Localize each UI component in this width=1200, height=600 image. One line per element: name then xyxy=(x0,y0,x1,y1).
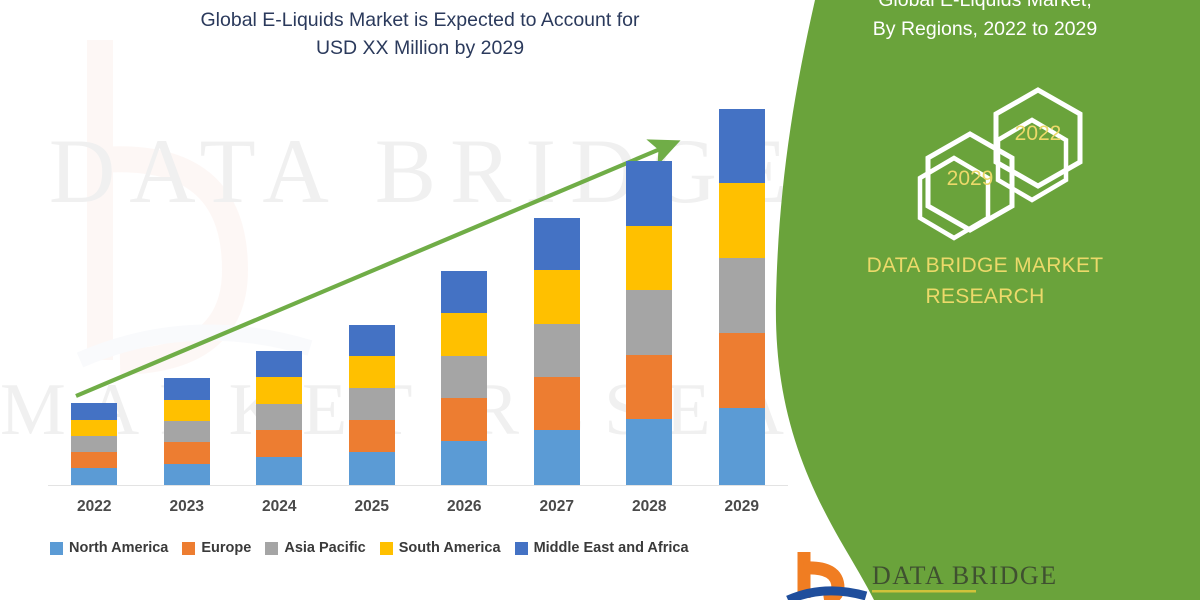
x-axis-label-2028: 2028 xyxy=(604,498,694,516)
legend-label: North America xyxy=(69,540,168,556)
legend-swatch-icon xyxy=(50,542,63,555)
bar-column-2028 xyxy=(626,161,672,485)
legend-item[interactable]: South America xyxy=(380,540,501,556)
bar-segment xyxy=(349,388,395,420)
chart-title: Global E-Liquids Market is Expected to A… xyxy=(90,6,750,62)
x-axis-label-2027: 2027 xyxy=(512,498,602,516)
bar-segment xyxy=(719,333,765,408)
bar-segment xyxy=(71,468,117,485)
chart-title-line-1: Global E-Liquids Market is Expected to A… xyxy=(90,6,750,34)
legend-label: South America xyxy=(399,540,501,556)
legend-item[interactable]: Asia Pacific xyxy=(265,540,365,556)
company-logo-text: DATA BRIDGE xyxy=(872,561,1058,590)
chart-title-line-2: USD XX Million by 2029 xyxy=(90,34,750,62)
bar-segment xyxy=(626,290,672,354)
x-axis-line xyxy=(48,485,788,486)
legend-item[interactable]: Europe xyxy=(182,540,251,556)
bar-segment xyxy=(164,421,210,442)
x-axis-tick-labels: 20222023202420252026202720282029 xyxy=(48,498,788,522)
legend-item[interactable]: North America xyxy=(50,540,168,556)
bar-segment xyxy=(256,404,302,431)
bar-column-2029 xyxy=(719,109,765,485)
bar-column-2022 xyxy=(71,403,117,485)
brand-panel: Global E-Liquids Market, By Regions, 202… xyxy=(770,0,1200,600)
bar-segment xyxy=(349,420,395,452)
bar-segment xyxy=(164,464,210,485)
legend-swatch-icon xyxy=(265,542,278,555)
bar-segment xyxy=(441,271,487,313)
legend-swatch-icon xyxy=(182,542,195,555)
bar-segment xyxy=(534,430,580,485)
x-axis-label-2029: 2029 xyxy=(697,498,787,516)
brand-name-line-2: RESEARCH xyxy=(805,281,1165,312)
bar-segment xyxy=(441,398,487,441)
bar-segment xyxy=(256,457,302,485)
legend-swatch-icon xyxy=(515,542,528,555)
x-axis-label-2025: 2025 xyxy=(327,498,417,516)
bar-segment xyxy=(441,313,487,356)
chart-plot-area: 20222023202420252026202720282029 xyxy=(0,0,820,600)
bar-segment xyxy=(256,351,302,377)
bar-column-2025 xyxy=(349,325,395,485)
legend-item[interactable]: Middle East and Africa xyxy=(515,540,689,556)
bar-segment xyxy=(626,355,672,419)
company-logo-mark: DATA BRIDGE xyxy=(780,548,1200,600)
bar-segment xyxy=(349,452,395,485)
x-axis-label-2026: 2026 xyxy=(419,498,509,516)
bar-segment xyxy=(534,377,580,430)
bar-column-2023 xyxy=(164,378,210,485)
bar-segment xyxy=(441,356,487,399)
bar-segment xyxy=(626,161,672,226)
bar-segment xyxy=(534,270,580,323)
bar-segment xyxy=(164,378,210,399)
brand-name-line-1: DATA BRIDGE MARKET xyxy=(805,250,1165,281)
bar-segment xyxy=(719,183,765,258)
bar-column-2027 xyxy=(534,218,580,485)
legend-swatch-icon xyxy=(380,542,393,555)
infographic-canvas: DATA BRIDGE MARKET RESEARCH Global E-Liq… xyxy=(0,0,1200,600)
stacked-bar-group xyxy=(48,100,788,485)
bar-segment xyxy=(71,420,117,436)
x-axis-label-2022: 2022 xyxy=(49,498,139,516)
bar-segment xyxy=(626,419,672,485)
bar-segment xyxy=(349,356,395,388)
bar-segment xyxy=(349,325,395,356)
bar-segment xyxy=(719,258,765,333)
x-axis-label-2024: 2024 xyxy=(234,498,324,516)
bar-segment xyxy=(256,430,302,457)
bar-segment xyxy=(71,452,117,468)
bar-segment xyxy=(256,377,302,404)
bar-segment xyxy=(71,403,117,420)
x-axis-label-2023: 2023 xyxy=(142,498,232,516)
chart-legend: North AmericaEuropeAsia PacificSouth Ame… xyxy=(50,540,689,556)
legend-label: Middle East and Africa xyxy=(534,540,689,556)
bar-segment xyxy=(164,400,210,421)
legend-label: Asia Pacific xyxy=(284,540,365,556)
company-logo: DATA BRIDGE xyxy=(780,548,1200,600)
bar-segment xyxy=(441,441,487,485)
bar-segment xyxy=(534,218,580,270)
legend-label: Europe xyxy=(201,540,251,556)
bar-column-2024 xyxy=(256,351,302,485)
bar-segment xyxy=(719,408,765,485)
bar-segment xyxy=(71,436,117,452)
bar-segment xyxy=(534,324,580,377)
bar-segment xyxy=(626,226,672,290)
bar-column-2026 xyxy=(441,271,487,485)
bar-segment xyxy=(164,442,210,463)
brand-name: DATA BRIDGE MARKET RESEARCH xyxy=(805,250,1165,312)
bar-segment xyxy=(719,109,765,184)
